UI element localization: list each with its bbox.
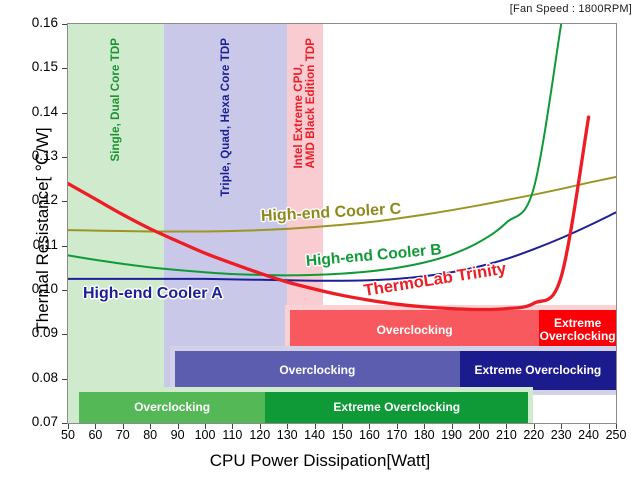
- curve-high-end-cooler-b: [68, 24, 561, 275]
- x-tick-mark: [479, 424, 480, 429]
- y-tick-0.09: 0.09: [14, 325, 58, 340]
- y-tick-0.07: 0.07: [14, 414, 58, 429]
- fan-speed-annotation: [Fan Speed : 1800RPM]: [510, 3, 632, 15]
- x-tick-mark: [589, 424, 590, 429]
- x-tick-mark: [68, 424, 69, 429]
- y-tick-0.11: 0.11: [14, 237, 58, 252]
- chart-root: [Fan Speed : 1800RPM] Thermal Resistance…: [0, 0, 640, 483]
- x-tick-mark: [95, 424, 96, 429]
- x-tick-mark: [260, 424, 261, 429]
- x-tick-mark: [178, 424, 179, 429]
- y-tick-0.16: 0.16: [14, 15, 58, 30]
- y-tick-0.15: 0.15: [14, 59, 58, 74]
- curve-high-end-cooler-a: [68, 212, 616, 280]
- y-tick-0.10: 0.10: [14, 281, 58, 296]
- x-tick-mark: [150, 424, 151, 429]
- x-tick-mark: [506, 424, 507, 429]
- x-tick-mark: [287, 424, 288, 429]
- y-tick-0.14: 0.14: [14, 104, 58, 119]
- plot-area: Single, Dual Core TDPTriple, Quad, Hexa …: [67, 23, 617, 424]
- label-high-end-cooler-a: High-end Cooler A: [83, 285, 223, 303]
- x-tick-250: 250: [596, 428, 636, 442]
- y-tick-0.13: 0.13: [14, 148, 58, 163]
- x-tick-mark: [616, 424, 617, 429]
- plot-inner: Single, Dual Core TDPTriple, Quad, Hexa …: [68, 24, 616, 423]
- x-tick-mark: [123, 424, 124, 429]
- x-axis-label: CPU Power Dissipation[Watt]: [0, 451, 640, 471]
- x-tick-mark: [205, 424, 206, 429]
- x-tick-mark: [424, 424, 425, 429]
- curve-layer: [68, 24, 616, 423]
- y-tick-0.08: 0.08: [14, 370, 58, 385]
- x-tick-mark: [369, 424, 370, 429]
- x-tick-mark: [342, 424, 343, 429]
- y-tick-0.12: 0.12: [14, 192, 58, 207]
- x-tick-mark: [397, 424, 398, 429]
- x-tick-mark: [534, 424, 535, 429]
- x-tick-mark: [315, 424, 316, 429]
- x-tick-mark: [452, 424, 453, 429]
- x-tick-mark: [232, 424, 233, 429]
- x-tick-mark: [561, 424, 562, 429]
